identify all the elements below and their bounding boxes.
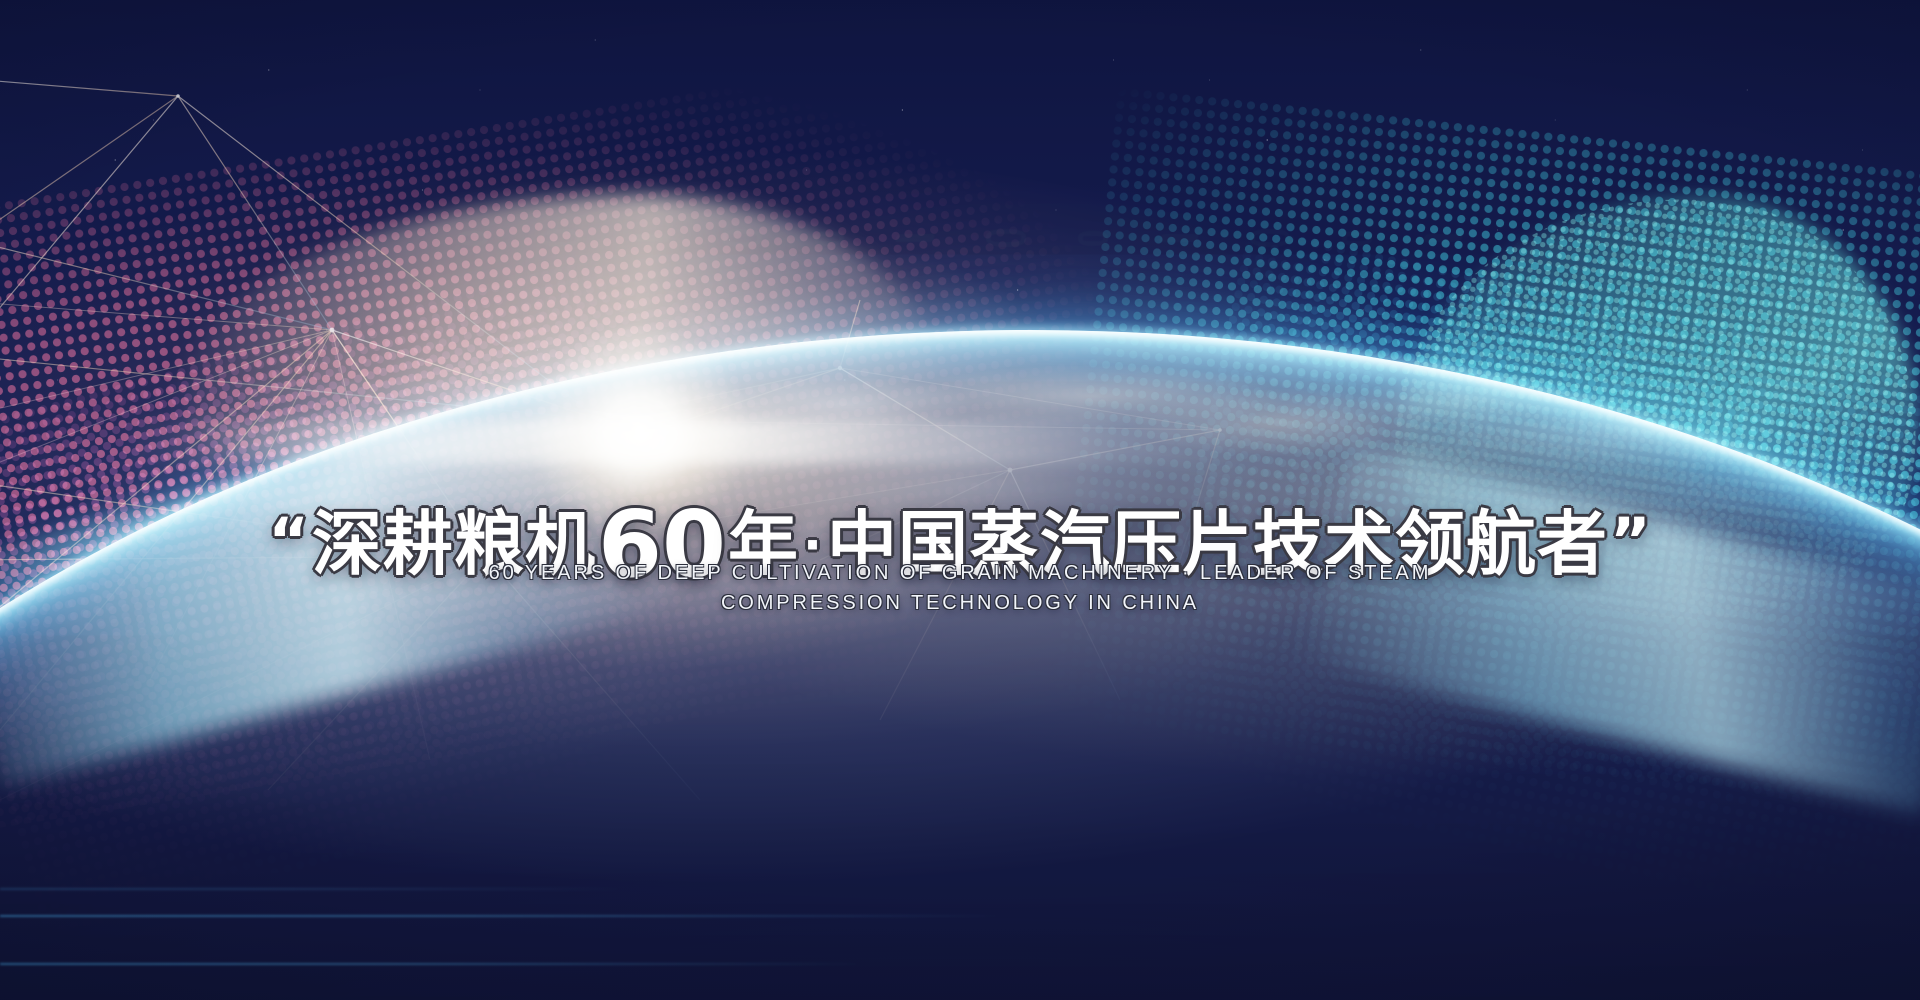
atmosphere-highlight-right bbox=[1303, 446, 1920, 814]
starfield-layer bbox=[0, 0, 1920, 1000]
headline-segment-1: 深耕粮机 bbox=[312, 503, 596, 585]
sunrise-glow bbox=[0, 0, 1920, 1000]
halftone-wave-left-crest bbox=[180, 195, 940, 495]
abstract-glyph-icon bbox=[630, 234, 671, 242]
network-constellation-lines bbox=[0, 0, 1920, 1000]
headline-segment-2: 年 bbox=[728, 503, 799, 585]
headline-number: 60 bbox=[596, 491, 728, 598]
abstract-glyph-icon bbox=[1078, 231, 1108, 246]
abstract-glyph-icon bbox=[1342, 231, 1372, 246]
halftone-wave-right-secondary bbox=[1131, 223, 1920, 937]
abstract-glyph-icon bbox=[540, 229, 580, 247]
banner-text-block: “深耕粮机60年·中国蒸汽压片技术领航者” 60 YEARS OF DEEP C… bbox=[0, 0, 1920, 1000]
abstract-glyph-icon bbox=[986, 229, 1026, 247]
light-streak bbox=[0, 963, 860, 965]
lens-flare-streak bbox=[120, 420, 1240, 464]
earth-sphere bbox=[0, 330, 1920, 1000]
banner-headline: “深耕粮机60年·中国蒸汽压片技术领航者” bbox=[0, 499, 1920, 591]
halftone-wave-right-crest-dots bbox=[1373, 161, 1920, 649]
earth-surface-texture bbox=[0, 330, 1920, 1000]
atmosphere-highlight-left bbox=[0, 383, 678, 786]
headline-close-quote: ” bbox=[1608, 504, 1654, 577]
halftone-wave-right bbox=[1049, 85, 1920, 816]
light-streak bbox=[0, 888, 620, 890]
headline-segment-3: 中国蒸汽压片技术领航者 bbox=[827, 503, 1608, 585]
light-streak bbox=[0, 915, 1000, 917]
abstract-glyph-icon bbox=[814, 231, 844, 246]
starfield-layer-fine bbox=[0, 0, 1920, 1000]
headline-separator: · bbox=[799, 516, 827, 574]
night-sky-background bbox=[0, 0, 1920, 1000]
headline-open-quote: “ bbox=[266, 504, 312, 577]
halftone-wave-left bbox=[0, 32, 1161, 829]
abstract-glyph-icon bbox=[722, 229, 762, 247]
abstract-glyph-row bbox=[0, 215, 1920, 261]
abstract-glyph-icon bbox=[1250, 229, 1290, 247]
abstract-glyph-icon bbox=[894, 234, 935, 242]
abstract-glyph-icon bbox=[1158, 234, 1199, 242]
earth-atmosphere-glow bbox=[0, 330, 1920, 1000]
abstract-glyph-icon bbox=[1422, 234, 1463, 242]
vignette-overlay bbox=[0, 0, 1920, 1000]
banner-subtitle-line-2: COMPRESSION TECHNOLOGY IN CHINA bbox=[0, 592, 1920, 615]
banner-canvas: “深耕粮机60年·中国蒸汽压片技术领航者” 60 YEARS OF DEEP C… bbox=[0, 0, 1920, 1000]
halftone-wave-right-crest bbox=[1400, 195, 1920, 615]
abstract-glyph-icon bbox=[458, 231, 488, 246]
halftone-wave-left-secondary bbox=[0, 179, 1010, 940]
banner-subtitle-line-1: 60 YEARS OF DEEP CULTIVATION OF GRAIN MA… bbox=[0, 562, 1920, 585]
